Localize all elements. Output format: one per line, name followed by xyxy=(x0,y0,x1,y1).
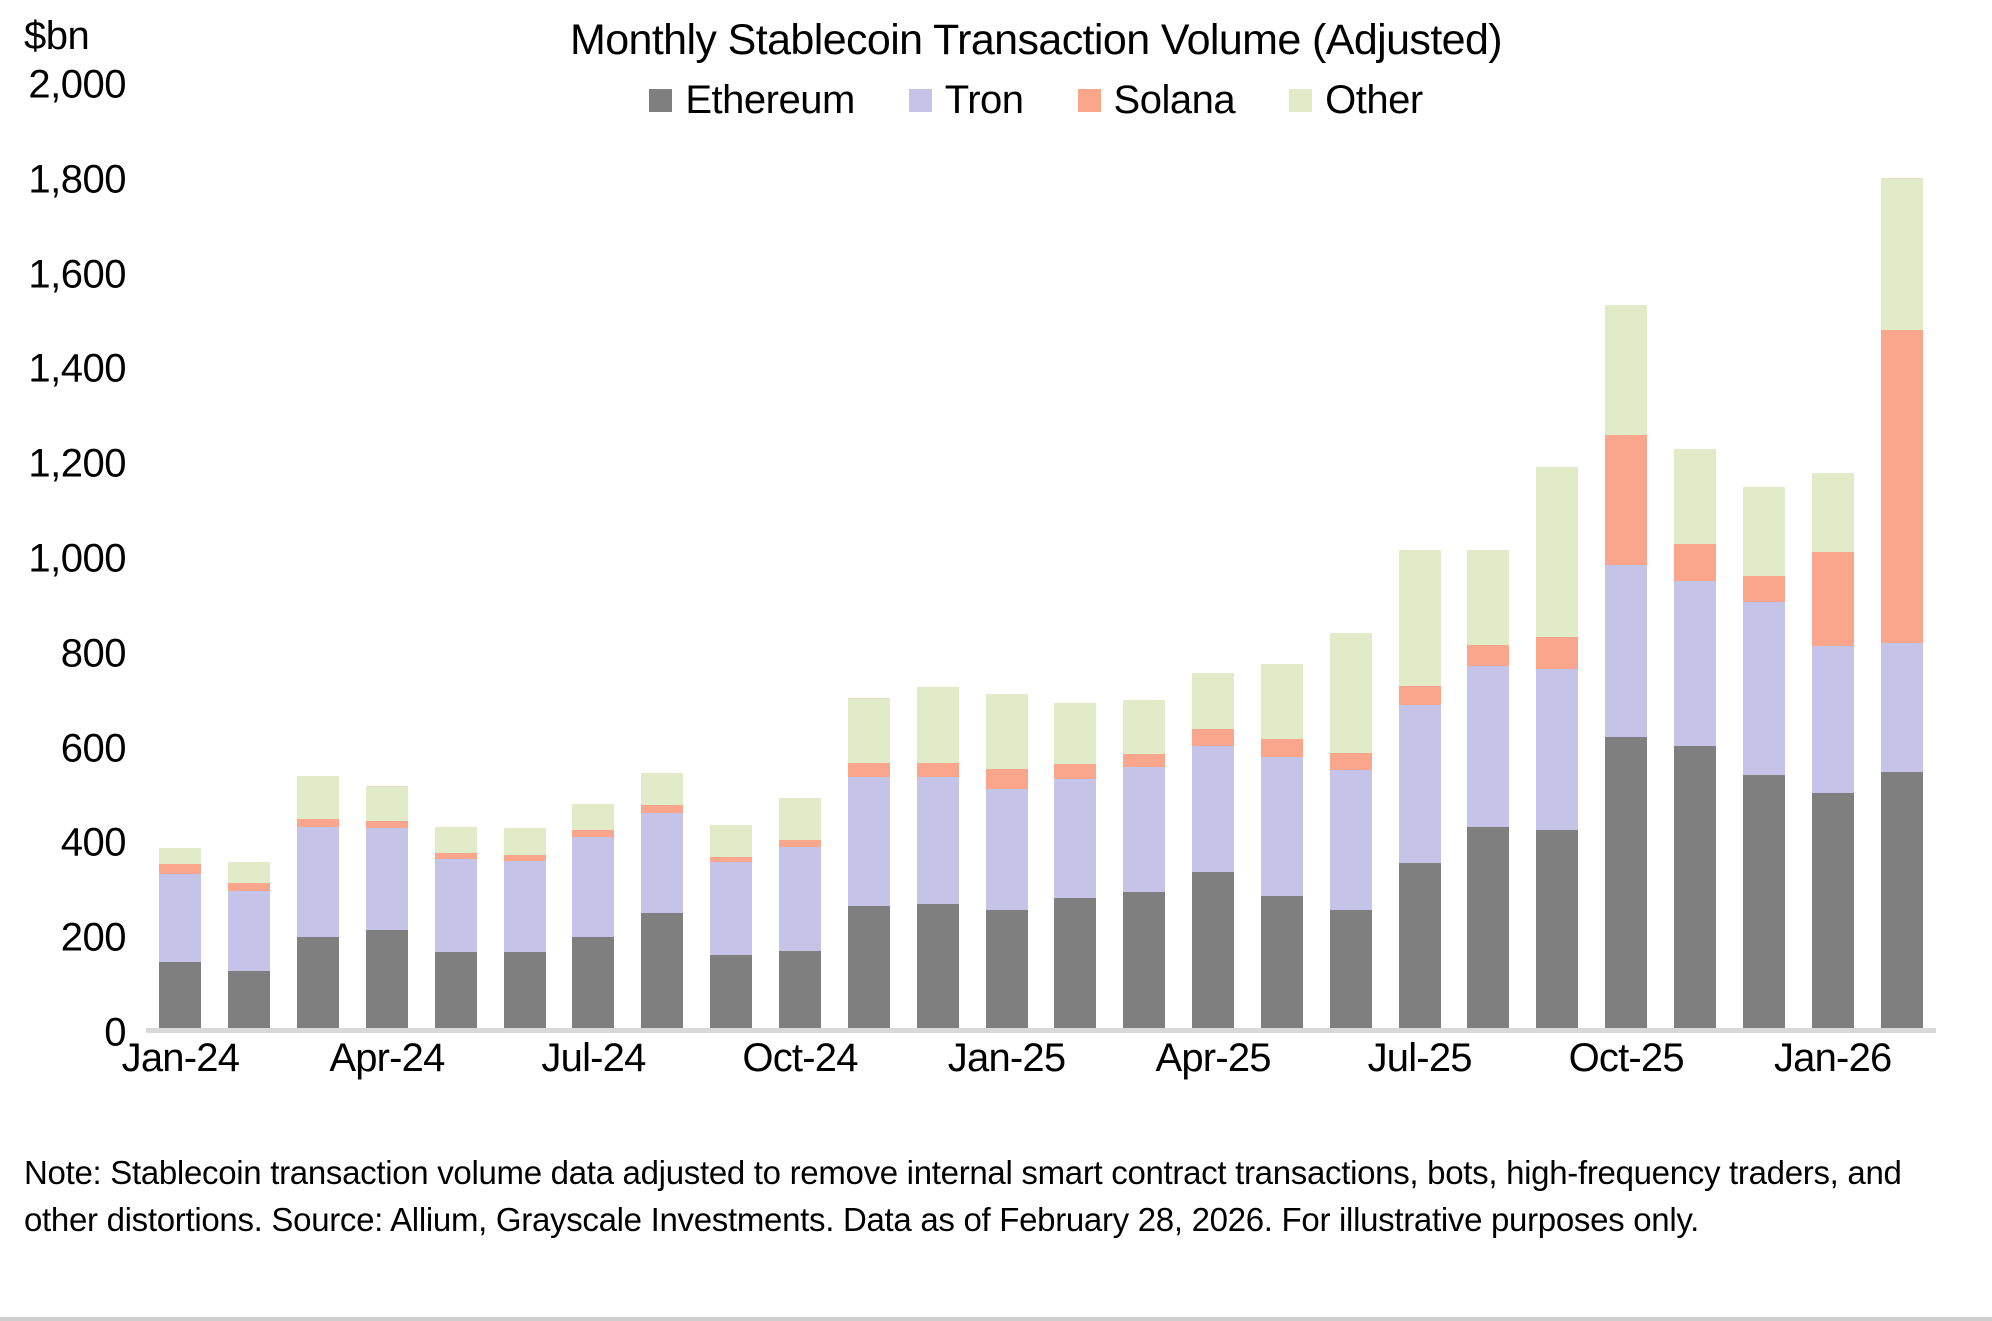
stacked-bar[interactable] xyxy=(297,776,339,1028)
bar-slot xyxy=(1867,85,1936,1028)
bar-slot xyxy=(834,85,903,1028)
bar-segment-other xyxy=(917,687,959,763)
stacked-bar[interactable] xyxy=(1605,305,1647,1028)
y-axis-tick-label: 1,200 xyxy=(28,442,126,487)
bar-segment-solana xyxy=(1330,753,1372,770)
bar-slot xyxy=(421,85,490,1028)
bar-segment-ethereum xyxy=(366,930,408,1028)
x-axis-line xyxy=(146,1028,1936,1033)
x-axis-tick-label: Jan-26 xyxy=(1774,1036,1892,1081)
y-axis-tick-label: 400 xyxy=(61,821,126,866)
bar-segment-tron xyxy=(228,891,270,972)
bar-slot xyxy=(972,85,1041,1028)
bar-segment-other xyxy=(1330,633,1372,753)
bar-segment-other xyxy=(1399,550,1441,687)
bar-segment-other xyxy=(228,862,270,883)
stacked-bar[interactable] xyxy=(710,825,752,1028)
bottom-divider xyxy=(0,1317,1992,1321)
x-axis-tick-label: Jan-24 xyxy=(122,1036,240,1081)
plot-area xyxy=(146,85,1936,1033)
stacked-bar[interactable] xyxy=(1054,703,1096,1028)
bar-slot xyxy=(1179,85,1248,1028)
stacked-bar[interactable] xyxy=(1536,467,1578,1028)
y-axis-tick-label: 2,000 xyxy=(28,63,126,108)
bar-segment-other xyxy=(159,848,201,865)
bar-segment-tron xyxy=(1674,581,1716,746)
bar-segment-ethereum xyxy=(917,904,959,1028)
bar-segment-solana xyxy=(366,821,408,828)
x-axis-tick-label: Jan-25 xyxy=(948,1036,1066,1081)
stacked-bar[interactable] xyxy=(1399,550,1441,1028)
bar-slot xyxy=(215,85,284,1028)
bar-segment-other xyxy=(297,776,339,819)
stacked-bar[interactable] xyxy=(986,694,1028,1028)
stacked-bar[interactable] xyxy=(1812,473,1854,1028)
bar-segment-solana xyxy=(228,883,270,890)
bar-segment-other xyxy=(1192,673,1234,729)
stacked-bar[interactable] xyxy=(435,827,477,1028)
bar-segment-tron xyxy=(1399,705,1441,863)
bar-group xyxy=(146,85,1936,1028)
x-axis-tick-label: Oct-25 xyxy=(1569,1036,1684,1081)
y-axis: 2,0001,8001,6001,4001,2001,0008006004002… xyxy=(0,85,140,1033)
bar-segment-ethereum xyxy=(848,906,890,1028)
bar-segment-other xyxy=(1605,305,1647,435)
y-axis-tick-label: 1,000 xyxy=(28,537,126,582)
stacked-bar[interactable] xyxy=(641,773,683,1028)
chart-footnote: Note: Stablecoin transaction volume data… xyxy=(24,1150,1964,1244)
bar-slot xyxy=(697,85,766,1028)
bar-slot xyxy=(766,85,835,1028)
bar-segment-ethereum xyxy=(159,962,201,1028)
bar-segment-solana xyxy=(1743,576,1785,602)
bar-segment-tron xyxy=(848,777,890,906)
bar-segment-ethereum xyxy=(1605,737,1647,1028)
bar-segment-other xyxy=(1536,467,1578,637)
stacked-bar[interactable] xyxy=(159,848,201,1028)
bar-segment-other xyxy=(1674,449,1716,544)
y-axis-tick-label: 600 xyxy=(61,726,126,771)
stacked-bar[interactable] xyxy=(572,804,614,1028)
bar-slot xyxy=(1523,85,1592,1028)
bar-slot xyxy=(146,85,215,1028)
bar-segment-ethereum xyxy=(641,913,683,1028)
bar-segment-other xyxy=(504,828,546,854)
bar-slot xyxy=(1041,85,1110,1028)
bar-segment-solana xyxy=(572,830,614,837)
bar-slot xyxy=(1729,85,1798,1028)
bar-segment-ethereum xyxy=(297,937,339,1028)
bar-segment-solana xyxy=(1674,544,1716,581)
bar-segment-tron xyxy=(1261,757,1303,896)
stacked-bar[interactable] xyxy=(1330,633,1372,1028)
bar-segment-ethereum xyxy=(1467,827,1509,1028)
bar-segment-ethereum xyxy=(1743,775,1785,1028)
bar-segment-other xyxy=(1467,550,1509,645)
bar-segment-other xyxy=(572,804,614,830)
bar-segment-ethereum xyxy=(1812,793,1854,1028)
bar-segment-tron xyxy=(917,777,959,904)
bar-segment-other xyxy=(1123,700,1165,754)
bar-segment-tron xyxy=(986,789,1028,910)
stacked-bar[interactable] xyxy=(366,786,408,1028)
bar-segment-ethereum xyxy=(1123,892,1165,1029)
bar-segment-solana xyxy=(1192,729,1234,746)
stacked-bar[interactable] xyxy=(1123,700,1165,1028)
bar-segment-ethereum xyxy=(228,971,270,1028)
bar-segment-ethereum xyxy=(1674,746,1716,1028)
bar-segment-ethereum xyxy=(1054,898,1096,1028)
bar-segment-ethereum xyxy=(779,951,821,1028)
stacked-bar[interactable] xyxy=(917,687,959,1028)
bar-segment-other xyxy=(710,825,752,857)
x-axis-tick-label: Apr-24 xyxy=(329,1036,444,1081)
bar-segment-solana xyxy=(917,763,959,777)
bar-segment-solana xyxy=(1812,552,1854,647)
bar-segment-tron xyxy=(1192,746,1234,872)
y-axis-tick-label: 800 xyxy=(61,631,126,676)
bar-segment-tron xyxy=(1536,669,1578,830)
stacked-bar[interactable] xyxy=(1261,664,1303,1028)
bar-segment-solana xyxy=(297,819,339,827)
bar-segment-tron xyxy=(1123,767,1165,892)
bar-slot xyxy=(903,85,972,1028)
bar-slot xyxy=(1385,85,1454,1028)
bar-segment-solana xyxy=(1261,739,1303,757)
bar-segment-ethereum xyxy=(1536,830,1578,1028)
bar-segment-tron xyxy=(1881,643,1923,772)
bar-segment-other xyxy=(1881,178,1923,330)
bar-segment-ethereum xyxy=(1399,863,1441,1028)
bar-segment-solana xyxy=(1536,637,1578,669)
bar-slot xyxy=(1316,85,1385,1028)
bar-segment-solana xyxy=(1605,435,1647,565)
y-axis-tick-label: 1,800 xyxy=(28,157,126,202)
bar-segment-solana xyxy=(159,864,201,873)
bar-segment-other xyxy=(1743,487,1785,576)
bar-segment-tron xyxy=(297,827,339,937)
bar-segment-tron xyxy=(159,874,201,962)
bar-segment-ethereum xyxy=(1330,910,1372,1029)
bar-segment-tron xyxy=(1743,602,1785,775)
bar-segment-other xyxy=(1054,703,1096,763)
bar-slot xyxy=(559,85,628,1028)
bar-segment-solana xyxy=(1123,754,1165,767)
bar-segment-ethereum xyxy=(986,910,1028,1029)
bar-slot xyxy=(353,85,422,1028)
bar-segment-solana xyxy=(1467,645,1509,666)
bar-segment-solana xyxy=(986,769,1028,789)
bar-segment-ethereum xyxy=(1881,772,1923,1028)
bar-slot xyxy=(1454,85,1523,1028)
stacked-bar[interactable] xyxy=(504,828,546,1028)
bar-segment-other xyxy=(848,698,890,763)
bar-segment-tron xyxy=(435,859,477,952)
bar-segment-ethereum xyxy=(1192,872,1234,1028)
bar-slot xyxy=(628,85,697,1028)
bar-slot xyxy=(490,85,559,1028)
bar-segment-other xyxy=(366,786,408,821)
bar-slot xyxy=(1110,85,1179,1028)
stacked-bar[interactable] xyxy=(1743,487,1785,1028)
bar-slot xyxy=(1798,85,1867,1028)
bar-slot xyxy=(284,85,353,1028)
bar-slot xyxy=(1592,85,1661,1028)
stacked-bar[interactable] xyxy=(779,798,821,1028)
bar-segment-ethereum xyxy=(710,955,752,1028)
chart-title: Monthly Stablecoin Transaction Volume (A… xyxy=(0,16,1992,65)
bar-segment-tron xyxy=(641,813,683,913)
x-axis-tick-label: Jul-24 xyxy=(541,1036,645,1081)
bar-segment-other xyxy=(986,694,1028,769)
stacked-bar[interactable] xyxy=(1467,550,1509,1028)
stacked-bar[interactable] xyxy=(1192,673,1234,1028)
bar-segment-solana xyxy=(1054,764,1096,780)
bar-segment-ethereum xyxy=(1261,896,1303,1028)
y-axis-tick-label: 1,400 xyxy=(28,347,126,392)
bar-segment-tron xyxy=(1605,565,1647,737)
bar-segment-tron xyxy=(779,847,821,950)
stacked-bar[interactable] xyxy=(1881,178,1923,1028)
bar-segment-tron xyxy=(1054,779,1096,898)
bar-segment-other xyxy=(1261,664,1303,739)
bar-segment-other xyxy=(435,827,477,853)
bar-segment-tron xyxy=(504,861,546,952)
bar-segment-tron xyxy=(1812,646,1854,793)
x-axis-tick-label: Oct-24 xyxy=(742,1036,857,1081)
bar-segment-solana xyxy=(1881,330,1923,643)
bar-segment-tron xyxy=(366,828,408,930)
bar-slot xyxy=(1661,85,1730,1028)
bar-segment-other xyxy=(779,798,821,841)
bar-segment-solana xyxy=(1399,686,1441,705)
bar-segment-tron xyxy=(572,837,614,937)
bar-segment-solana xyxy=(641,805,683,814)
bar-segment-tron xyxy=(1330,770,1372,910)
y-axis-tick-label: 200 xyxy=(61,916,126,961)
x-axis-tick-label: Jul-25 xyxy=(1368,1036,1472,1081)
bar-segment-ethereum xyxy=(504,952,546,1028)
bar-slot xyxy=(1248,85,1317,1028)
stacked-bar[interactable] xyxy=(848,698,890,1028)
x-axis: Jan-24Apr-24Jul-24Oct-24Jan-25Apr-25Jul-… xyxy=(146,1036,1936,1096)
bar-segment-solana xyxy=(779,840,821,847)
bar-segment-ethereum xyxy=(435,952,477,1028)
stacked-bar[interactable] xyxy=(1674,449,1716,1028)
bar-segment-other xyxy=(641,773,683,805)
y-axis-tick-label: 1,600 xyxy=(28,252,126,297)
stacked-bar[interactable] xyxy=(228,862,270,1028)
bar-segment-tron xyxy=(710,862,752,955)
bar-segment-tron xyxy=(1467,666,1509,826)
x-axis-tick-label: Apr-25 xyxy=(1155,1036,1270,1081)
bar-segment-ethereum xyxy=(572,937,614,1028)
bar-segment-other xyxy=(1812,473,1854,551)
bar-segment-solana xyxy=(848,763,890,777)
